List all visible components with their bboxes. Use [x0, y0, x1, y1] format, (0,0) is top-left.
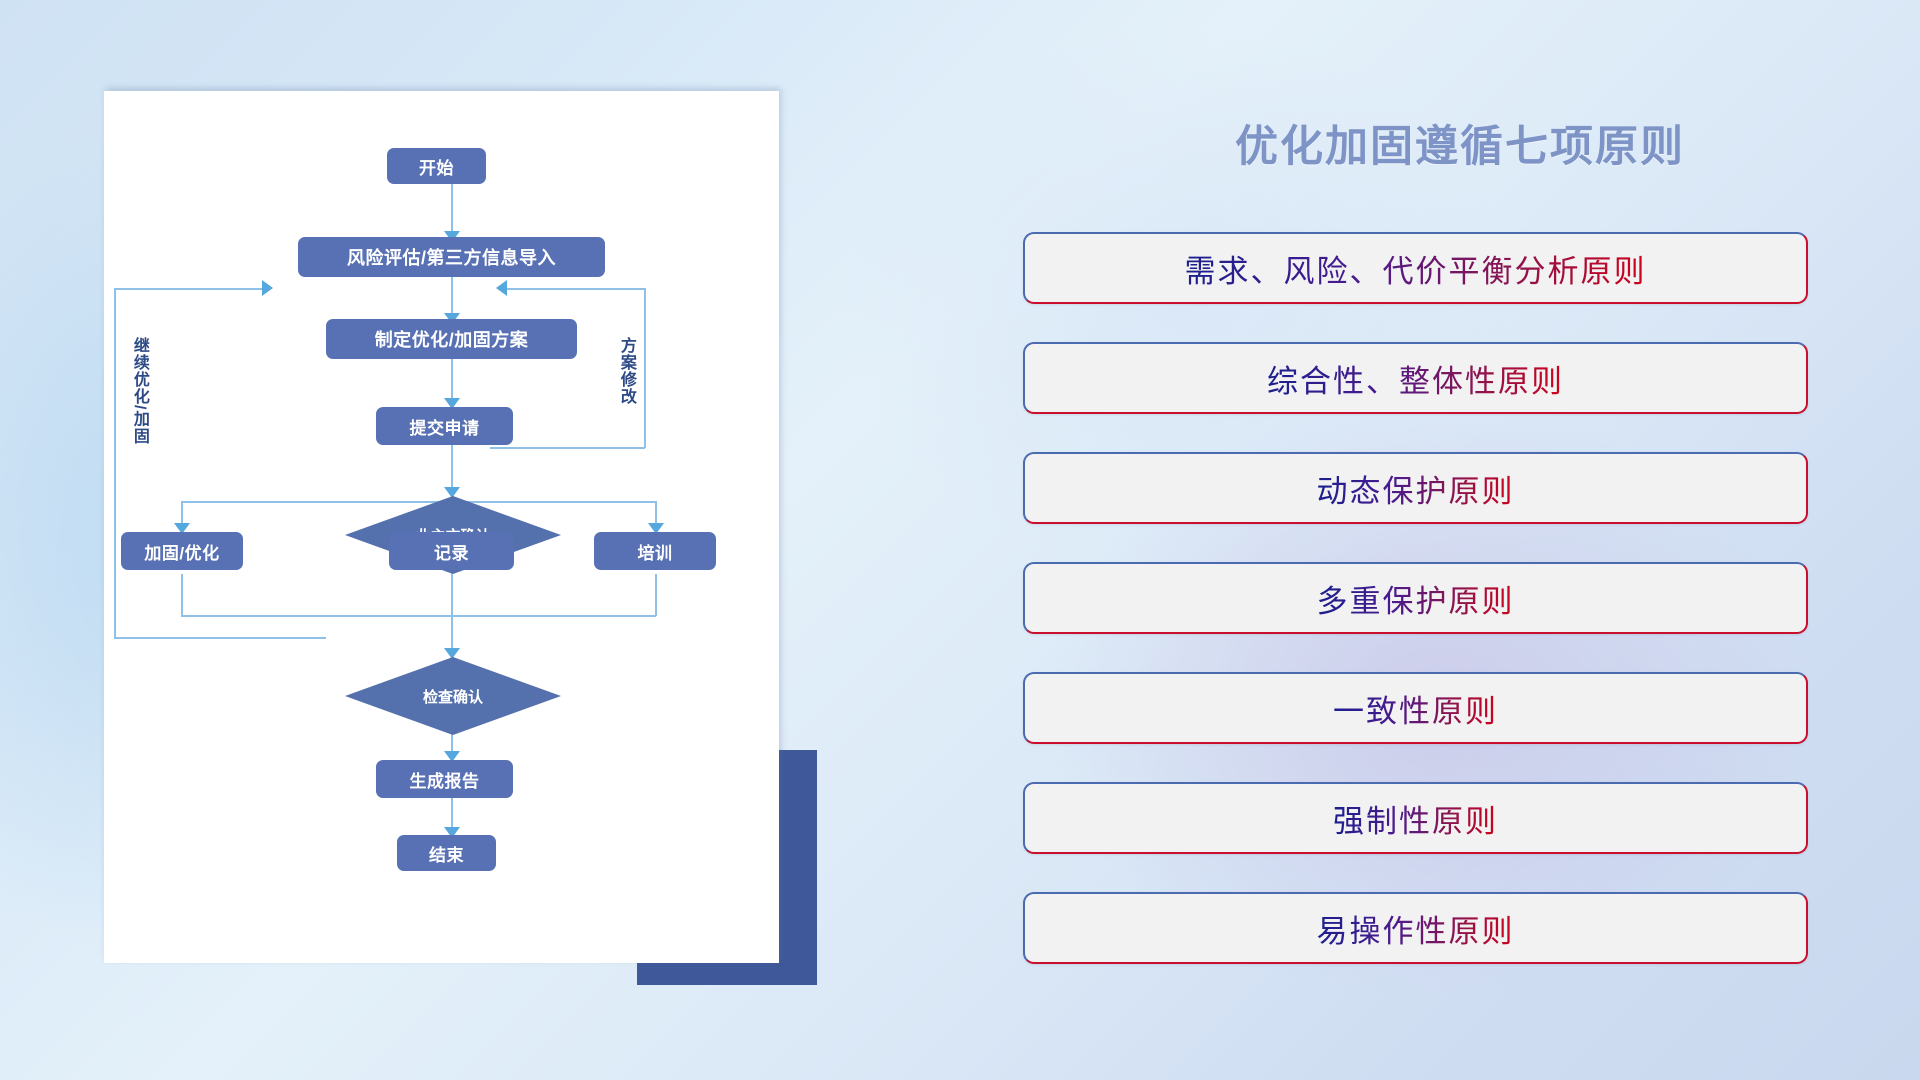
flowchart-card: 开始 风险评估/第三方信息导入 制定优化/加固方案 提交申请 业主方确认 加固/…	[104, 91, 779, 963]
connector-left-rail-top	[114, 288, 264, 290]
principle-row[interactable]: 易操作性原则	[1023, 892, 1808, 964]
arrow-submit-owner	[444, 487, 460, 498]
flow-node-submit[interactable]: 提交申请	[376, 407, 513, 445]
principle-row[interactable]: 强制性原则	[1023, 782, 1808, 854]
flow-node-report[interactable]: 生成报告	[376, 760, 513, 798]
principle-label: 强制性原则	[1333, 796, 1498, 841]
flow-node-record[interactable]: 记录	[389, 532, 514, 570]
principle-row[interactable]: 一致性原则	[1023, 672, 1808, 744]
flow-node-training[interactable]: 培训	[594, 532, 716, 570]
connector-reinforce-down	[181, 574, 183, 616]
connector-right-rail-top	[504, 288, 645, 290]
principle-label: 综合性、整体性原则	[1267, 356, 1564, 401]
connector-owner-right	[490, 447, 645, 449]
principle-label: 一致性原则	[1333, 686, 1498, 731]
connector-record-down	[451, 574, 453, 616]
connector-right-rail	[644, 288, 646, 448]
principle-row[interactable]: 动态保护原则	[1023, 452, 1808, 524]
principle-row[interactable]: 多重保护原则	[1023, 562, 1808, 634]
connector-left-rail	[114, 288, 116, 638]
principle-label: 动态保护原则	[1317, 466, 1515, 511]
slide-canvas: 开始 风险评估/第三方信息导入 制定优化/加固方案 提交申请 业主方确认 加固/…	[0, 0, 1920, 1080]
principle-row[interactable]: 需求、风险、代价平衡分析原则	[1023, 232, 1808, 304]
connector-start-risk	[451, 181, 453, 238]
principle-label: 多重保护原则	[1317, 576, 1515, 621]
principles-list: 需求、风险、代价平衡分析原则 综合性、整体性原则 动态保护原则 多重保护原则 一…	[1023, 232, 1808, 1002]
connector-training-down	[655, 574, 657, 616]
flow-node-plan[interactable]: 制定优化/加固方案	[326, 319, 577, 359]
arrow-merge-check	[444, 648, 460, 659]
edge-label-plan-revise: 方案修改	[617, 337, 635, 405]
flow-node-risk-assessment[interactable]: 风险评估/第三方信息导入	[298, 237, 605, 277]
edge-label-continue-optimize: 继续优化/加固	[130, 337, 148, 444]
flow-node-reinforce[interactable]: 加固/优化	[121, 532, 243, 570]
principle-label: 易操作性原则	[1317, 906, 1515, 951]
connector-branch-bus	[181, 501, 656, 503]
flowchart: 开始 风险评估/第三方信息导入 制定优化/加固方案 提交申请 业主方确认 加固/…	[104, 91, 779, 963]
connector-merge-bus	[181, 615, 656, 617]
principle-label: 需求、风险、代价平衡分析原则	[1185, 246, 1647, 291]
flow-node-check-confirm[interactable]: 检查确认	[345, 657, 561, 735]
flow-node-end[interactable]: 结束	[397, 835, 496, 871]
flow-node-start[interactable]: 开始	[387, 148, 486, 184]
arrow-left-to-plan	[262, 280, 273, 296]
right-panel-title: 优化加固遵循七项原则	[1150, 112, 1770, 174]
connector-left-rail-bottom	[114, 637, 326, 639]
principle-row[interactable]: 综合性、整体性原则	[1023, 342, 1808, 414]
arrow-right-to-plan	[496, 280, 507, 296]
